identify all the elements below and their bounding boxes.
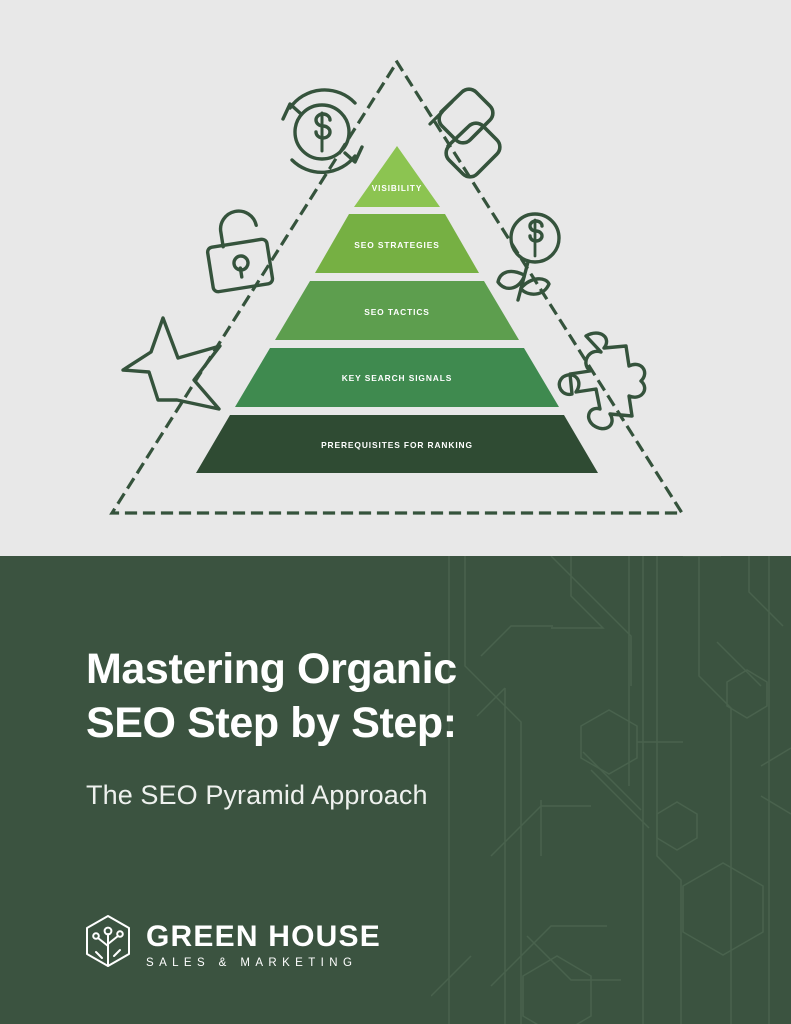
cover-page: VISIBILITY SEO STRATEGIES SEO TACTICS KE…	[0, 0, 791, 1024]
money-plant-icon	[498, 214, 559, 300]
pyramid-level-label: KEY SEARCH SIGNALS	[342, 373, 453, 383]
pyramid-level-label: SEO STRATEGIES	[354, 240, 440, 250]
title-line-2: SEO Step by Step:	[86, 697, 556, 751]
brand-tagline: SALES & MARKETING	[146, 958, 381, 970]
circuit-board-watermark	[431, 556, 791, 1024]
brand-logo[interactable]: GREEN HOUSE SALES & MARKETING	[84, 914, 381, 976]
brand-name: GREEN HOUSE	[146, 921, 381, 953]
puzzle-piece-icon	[559, 333, 644, 429]
pyramid-level-prerequisites-for-ranking[interactable]: PREREQUISITES FOR RANKING	[196, 415, 598, 473]
pyramid-level-label: VISIBILITY	[372, 184, 422, 193]
dollar-recycle-icon	[283, 90, 362, 172]
title-line-1: Mastering Organic	[86, 643, 556, 697]
page-subtitle: The SEO Pyramid Approach	[86, 780, 428, 811]
pyramid-level-key-search-signals[interactable]: KEY SEARCH SIGNALS	[235, 348, 559, 407]
pyramid-diagram-panel: VISIBILITY SEO STRATEGIES SEO TACTICS KE…	[0, 0, 791, 556]
star-icon	[123, 318, 220, 409]
pyramid-level-seo-tactics[interactable]: SEO TACTICS	[275, 281, 519, 340]
page-title: Mastering Organic SEO Step by Step:	[86, 643, 556, 751]
cover-title-panel: Mastering Organic SEO Step by Step: The …	[0, 556, 791, 1024]
chain-link-icon	[430, 89, 500, 177]
pyramid-levels: VISIBILITY SEO STRATEGIES SEO TACTICS KE…	[196, 146, 598, 473]
padlock-icon	[207, 208, 273, 292]
seo-pyramid-diagram: VISIBILITY SEO STRATEGIES SEO TACTICS KE…	[0, 0, 791, 556]
pyramid-level-label: SEO TACTICS	[364, 307, 430, 317]
pyramid-level-visibility[interactable]: VISIBILITY	[354, 146, 440, 207]
pyramid-level-seo-strategies[interactable]: SEO STRATEGIES	[315, 214, 479, 273]
pyramid-level-label: PREREQUISITES FOR RANKING	[321, 440, 473, 450]
hexagon-circuit-tree-icon	[84, 914, 132, 976]
